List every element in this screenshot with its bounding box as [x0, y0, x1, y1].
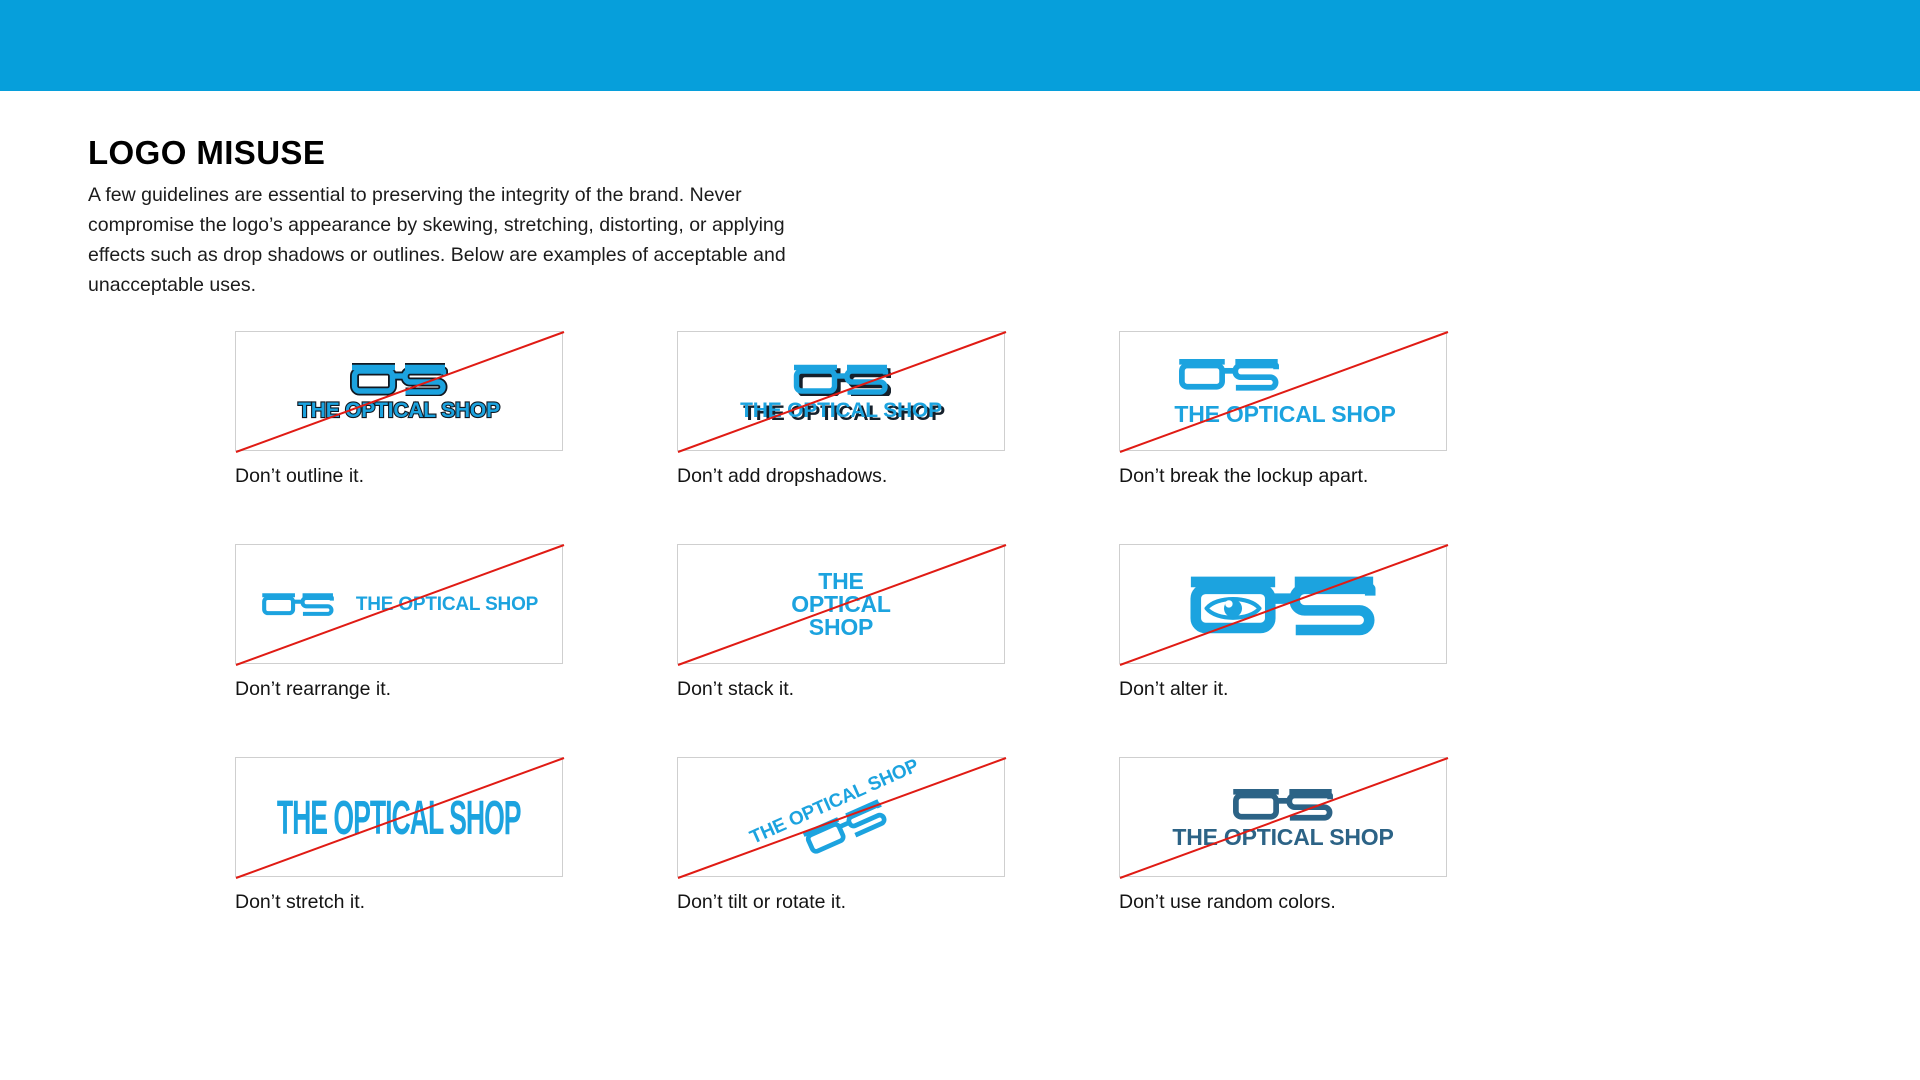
example-box: THE OPTICAL SHOP: [1119, 331, 1447, 451]
misuse-example-outline: THE OPTICAL SHOP Don’t outline it.: [235, 331, 563, 488]
example-box: THE OPTICAL SHOP: [235, 757, 563, 877]
misuse-example-broken-lockup: THE OPTICAL SHOP Don’t break the lockup …: [1119, 331, 1447, 488]
logo-stage: THE OPTICAL SHOP: [236, 545, 562, 663]
example-box: THE OPTICAL SHOP: [677, 757, 1005, 877]
example-box: [1119, 544, 1447, 664]
logo-wordmark: THE OPTICAL SHOP: [740, 400, 942, 421]
glasses-os-icon: [791, 362, 891, 396]
glasses-os-icon: [1230, 786, 1336, 822]
logo-wordmark-line-1: THE: [818, 570, 863, 593]
example-caption: Don’t alter it.: [1119, 677, 1447, 701]
logo-wordmark: THE OPTICAL SHOP: [1174, 403, 1395, 426]
logo-lockup-outlined: THE OPTICAL SHOP: [298, 362, 500, 421]
logo-stage: THE OPTICAL SHOP: [1120, 758, 1446, 876]
logo-lockup-altered: [1185, 571, 1381, 638]
page-intro-paragraph: A few guidelines are essential to preser…: [88, 180, 830, 300]
logo-lockup-offcolor: THE OPTICAL SHOP: [1172, 786, 1393, 849]
logo-lockup-broken: THE OPTICAL SHOP: [1170, 356, 1395, 426]
logo-wordmark: THE OPTICAL SHOP: [1172, 826, 1393, 849]
example-caption: Don’t outline it.: [235, 464, 563, 488]
example-caption: Don’t stack it.: [677, 677, 1005, 701]
example-box: THE OPTICAL SHOP: [677, 331, 1005, 451]
logo-lockup-stretched: THE OPTICAL SHOP: [257, 802, 540, 833]
example-caption: Don’t rearrange it.: [235, 677, 563, 701]
logo-stage: [1120, 545, 1446, 663]
misuse-example-stretched: THE OPTICAL SHOP Don’t stretch it.: [235, 757, 563, 914]
heading-block: LOGO MISUSE A few guidelines are essenti…: [88, 136, 848, 300]
misuse-example-rearranged: THE OPTICAL SHOP Don’t rearrange it.: [235, 544, 563, 701]
misuse-example-tilted: THE OPTICAL SHOP: [677, 757, 1005, 914]
example-caption: Don’t add dropshadows.: [677, 464, 1005, 488]
logo-lockup-tilted: THE OPTICAL SHOP: [747, 758, 935, 876]
logo-wordmark-line-3: SHOP: [809, 616, 873, 639]
logo-stage: THE OPTICAL SHOP: [678, 332, 1004, 450]
logo-wordmark: THE OPTICAL SHOP: [277, 793, 521, 841]
example-box: THE OPTICAL SHOP: [677, 544, 1005, 664]
logo-wordmark: THE OPTICAL SHOP: [356, 595, 538, 614]
glasses-os-icon: [349, 362, 449, 396]
misuse-example-stacked: THE OPTICAL SHOP Don’t stack it.: [677, 544, 1005, 701]
page-content: LOGO MISUSE A few guidelines are essenti…: [0, 91, 1920, 1080]
page-title: LOGO MISUSE: [88, 136, 848, 171]
logo-stage: THE OPTICAL SHOP: [1120, 332, 1446, 450]
misuse-example-random-colors: THE OPTICAL SHOP Don’t use random colors…: [1119, 757, 1447, 914]
example-caption: Don’t break the lockup apart.: [1119, 464, 1447, 488]
glasses-os-eye-icon: [1185, 571, 1381, 638]
logo-misuse-grid: THE OPTICAL SHOP Don’t outline it.: [235, 331, 1555, 914]
logo-stage: THE OPTICAL SHOP: [678, 758, 1004, 876]
glasses-os-icon: [1176, 356, 1282, 392]
logo-stage: THE OPTICAL SHOP: [678, 545, 1004, 663]
example-box: THE OPTICAL SHOP: [1119, 757, 1447, 877]
logo-wordmark-line-2: OPTICAL: [791, 593, 891, 616]
logo-wordmark: THE OPTICAL SHOP: [298, 400, 500, 421]
brand-color-bar: [0, 0, 1920, 91]
logo-stage: THE OPTICAL SHOP: [236, 758, 562, 876]
misuse-example-dropshadow: THE OPTICAL SHOP Don’t add dropshadows.: [677, 331, 1005, 488]
logo-lockup-dropshadow: THE OPTICAL SHOP: [740, 362, 942, 421]
example-caption: Don’t use random colors.: [1119, 890, 1447, 914]
example-box: THE OPTICAL SHOP: [235, 544, 563, 664]
logo-lockup-stacked: THE OPTICAL SHOP: [791, 570, 891, 639]
example-box: THE OPTICAL SHOP: [235, 331, 563, 451]
example-caption: Don’t stretch it.: [235, 890, 563, 914]
glasses-os-icon: [260, 591, 336, 617]
example-caption: Don’t tilt or rotate it.: [677, 890, 1005, 914]
eye-graphic: [1207, 599, 1260, 618]
logo-stage: THE OPTICAL SHOP: [236, 332, 562, 450]
logo-lockup-rearranged: THE OPTICAL SHOP: [260, 591, 538, 617]
misuse-example-altered: Don’t alter it.: [1119, 544, 1447, 701]
